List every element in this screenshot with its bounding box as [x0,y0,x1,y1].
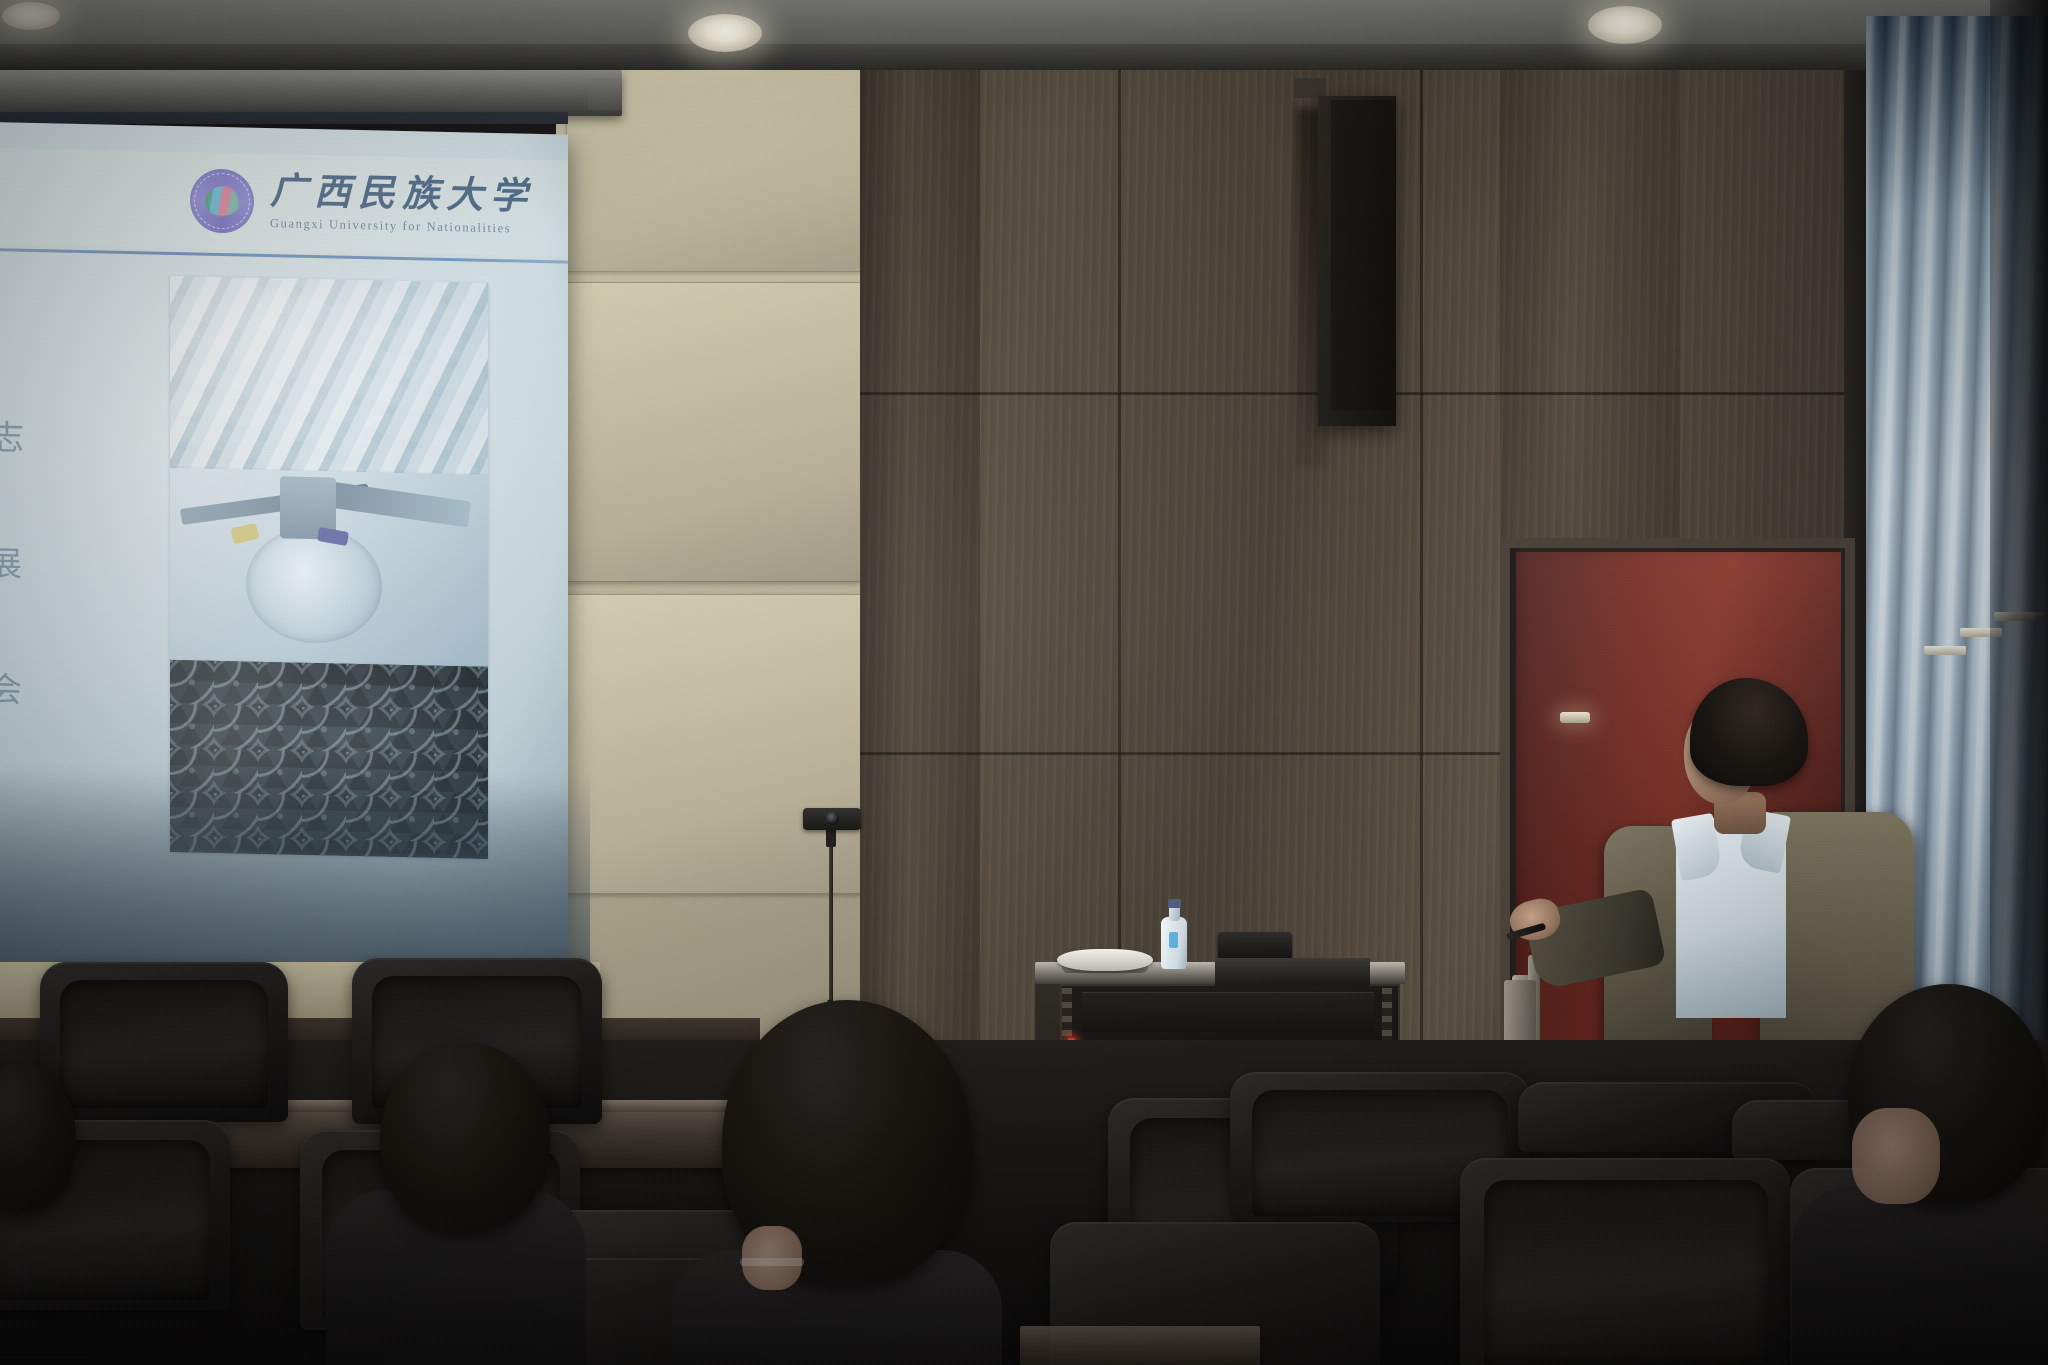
ceiling-downlight [1588,6,1662,44]
metal-rolls-photo [170,276,488,475]
audience-head [380,1042,550,1232]
university-name-cn: 广西民族大学 [270,173,534,218]
slide-side-text-line-2: 展 [0,548,24,583]
crest-flame-emblem [205,186,239,217]
wood-seam [1420,0,1423,1120]
alcove-light-reflection [1560,712,1590,723]
lecture-hall-photo: 广西民族大学 Guangxi University for Nationalit… [0,0,2048,1365]
ceiling-downlight [688,14,762,52]
slide-side-text-line-3: 会 [0,674,24,709]
wafer-probe-photo [170,468,488,667]
acoustic-panel [566,594,862,894]
projection-screen-top-bar [0,112,568,124]
rack-unit-upper [1082,992,1374,1032]
curtain-right-shadow [1990,0,2048,1160]
presentation-slide: 广西民族大学 Guangxi University for Nationalit… [0,122,568,975]
curtain-hook [1924,646,1966,655]
wood-shading [860,0,980,1120]
audience-face [1852,1108,1940,1204]
speaker-grille [1331,100,1396,410]
remote-control[interactable] [1218,932,1292,960]
beige-acoustic-wall [556,38,872,1058]
slide-side-text-line-1: 志 [0,422,24,457]
tripod-head [826,829,836,847]
audience-chair-seat [60,980,268,1108]
audience-chair-seat [1484,1180,1768,1365]
water-bottle-label [1169,932,1178,948]
speaker-mount-bracket [1294,78,1326,98]
university-crest-icon [190,168,254,233]
audience-table [1020,1326,1260,1365]
audience-shoulders [1792,1186,2048,1365]
university-name-block: 广西民族大学 Guangxi University for Nationalit… [270,173,534,237]
slide-side-text: 志 展 会 [0,422,24,709]
ceiling-downlight [2,2,60,30]
projection-screen-case-end [588,78,622,110]
university-name-en: Guangxi University for Nationalities [270,216,511,236]
slide-figure-column [170,276,488,859]
audience-glasses [740,1258,804,1266]
audio-mixer[interactable] [1215,958,1370,986]
camera-lens-icon [826,812,839,825]
acoustic-panel [566,282,862,582]
slide-header: 广西民族大学 Guangxi University for Nationalit… [0,148,568,257]
probe-marker-yellow [230,523,259,544]
water-bottle-cap[interactable] [1168,899,1181,908]
wafer-disc [246,526,382,645]
projection-screen-case [0,70,622,116]
projection-screen: 广西民族大学 Guangxi University for Nationalit… [0,122,568,975]
wireless-access-point [1057,949,1153,971]
ceiling-shadow-strip [0,44,2048,70]
probe-arm-secondary [319,480,471,527]
screen-bottom-falloff [0,772,568,975]
